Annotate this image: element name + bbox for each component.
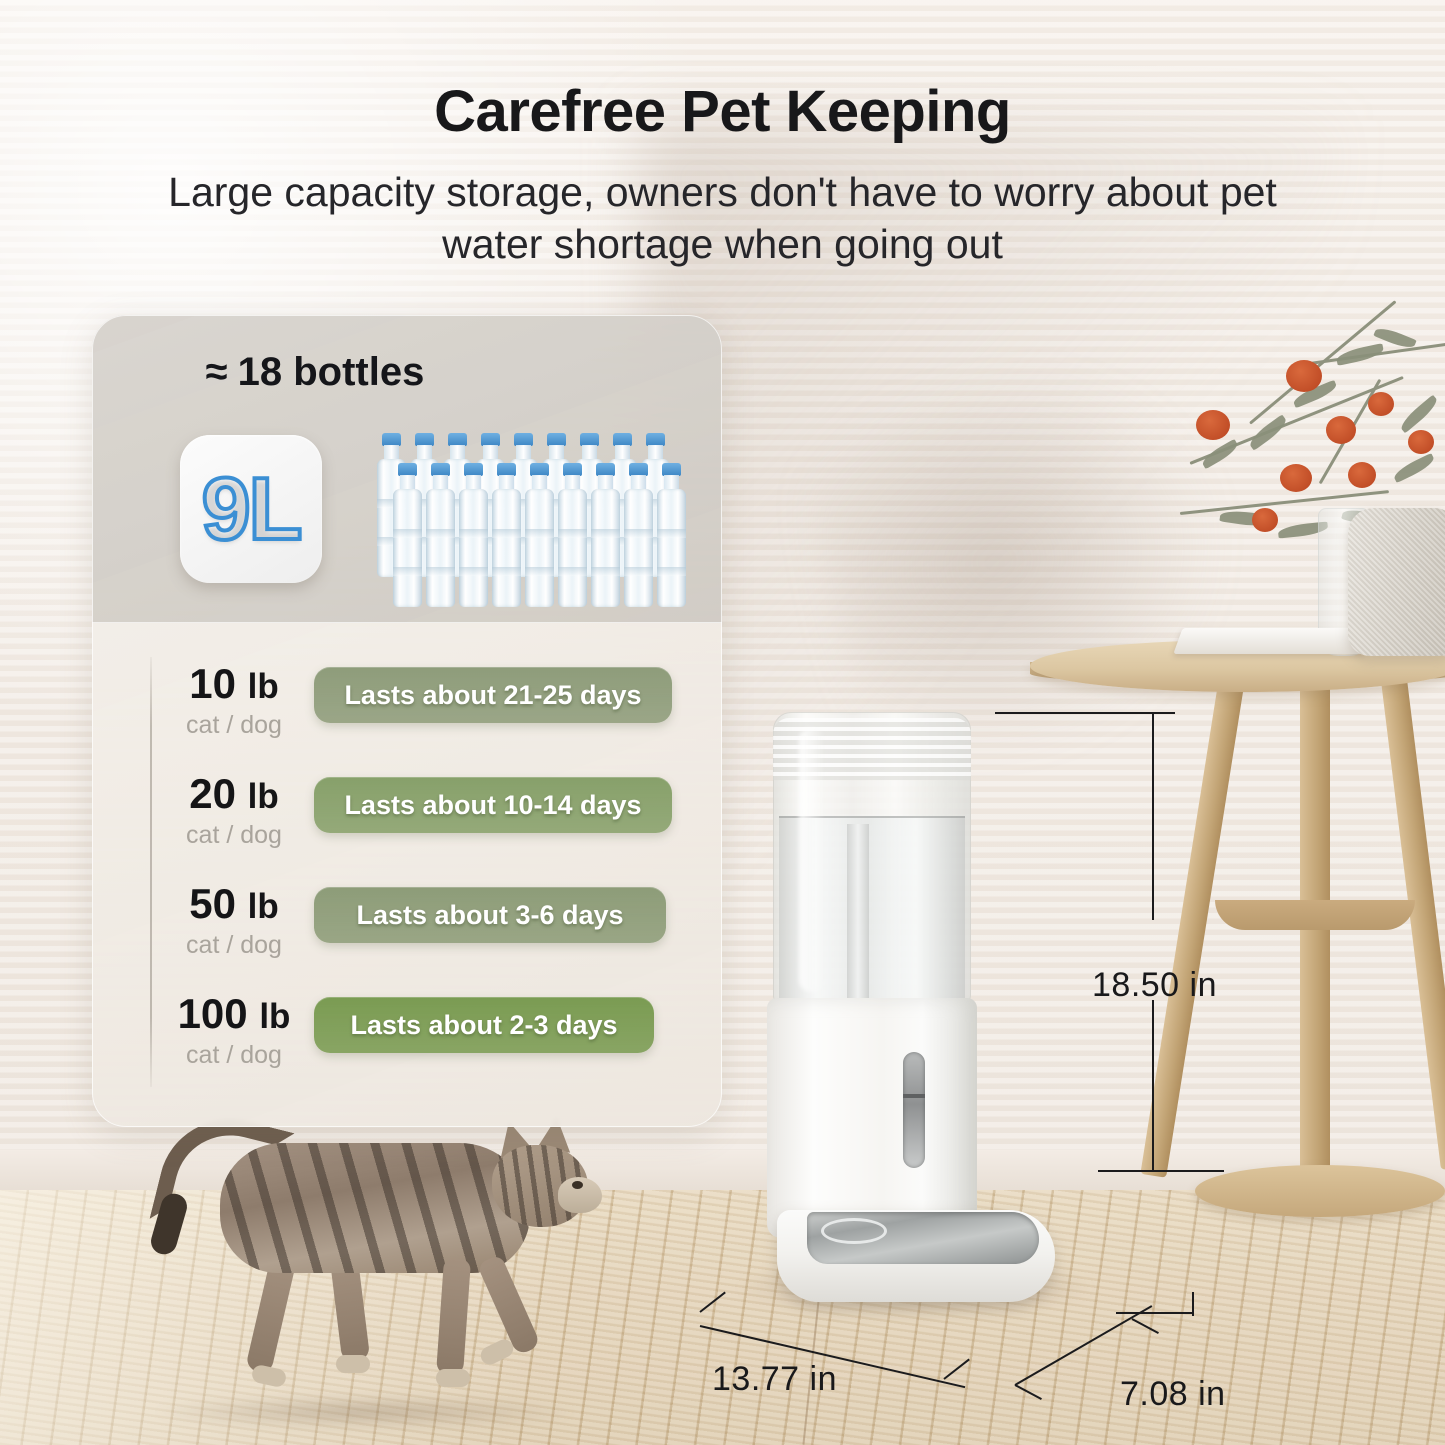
water-bottle <box>588 463 622 611</box>
duration-pill: Lasts about 10-14 days <box>314 777 672 833</box>
capacity-row: 10 lbcat / dogLasts about 21-25 days <box>92 645 722 745</box>
bottle-band <box>558 567 587 576</box>
weight-number: 10 <box>189 660 236 707</box>
bottle-band <box>426 567 455 576</box>
water-bottle <box>390 463 424 611</box>
book-on-table <box>1173 628 1374 654</box>
species-label: cat / dog <box>154 933 314 958</box>
pet-water-dispenser <box>755 712 1075 1312</box>
weight-unit: lb <box>248 667 279 706</box>
bowl-ring <box>821 1218 887 1244</box>
bottle-band <box>426 529 455 538</box>
weight-value: 10 lb <box>154 663 314 705</box>
bottle-body <box>393 489 422 607</box>
bottle-band <box>393 529 422 538</box>
bottle-band <box>624 529 653 538</box>
water-bottle <box>522 463 556 611</box>
weight-unit: lb <box>248 777 279 816</box>
page-title: Carefree Pet Keeping <box>0 78 1445 145</box>
height-line-upper <box>1152 712 1154 920</box>
weight-number: 100 <box>178 990 248 1037</box>
bottle-row-front <box>390 463 687 611</box>
height-bottom-tick <box>1098 1170 1224 1172</box>
bottle-band <box>624 567 653 576</box>
duration-pill: Lasts about 21-25 days <box>314 667 672 723</box>
capacity-row: 20 lbcat / dogLasts about 10-14 days <box>92 755 722 855</box>
species-label: cat / dog <box>154 713 314 738</box>
flower <box>1408 430 1434 454</box>
bottle-body <box>492 489 521 607</box>
weight-value: 50 lb <box>154 883 314 925</box>
bottle-body <box>525 489 554 607</box>
weight-unit: lb <box>259 997 290 1036</box>
cat <box>140 1115 630 1435</box>
weight-unit: lb <box>248 887 279 926</box>
flower <box>1326 416 1356 444</box>
depth-corner-tick <box>1192 1292 1194 1316</box>
bottle-body <box>591 489 620 607</box>
cat-paw <box>436 1369 470 1387</box>
bottle-body <box>426 489 455 607</box>
cat-leg <box>436 1258 471 1376</box>
bottle-band <box>492 529 521 538</box>
water-bottle <box>555 463 589 611</box>
bottle-band <box>525 529 554 538</box>
water-bottle <box>654 463 688 611</box>
cat-paw <box>478 1336 516 1367</box>
flower <box>1280 464 1312 492</box>
width-dimension-label: 13.77 in <box>712 1360 837 1399</box>
bottle-band <box>492 567 521 576</box>
cat-stripes <box>220 1143 530 1273</box>
capacity-rows: 10 lbcat / dogLasts about 21-25 days20 l… <box>92 645 722 1115</box>
species-label: cat / dog <box>154 823 314 848</box>
flower <box>1196 410 1230 440</box>
speaker <box>1348 508 1445 656</box>
table-brace <box>1215 900 1415 930</box>
capacity-row: 50 lbcat / dogLasts about 3-6 days <box>92 865 722 965</box>
bottle-body <box>558 489 587 607</box>
table-foot-ring <box>1195 1165 1445 1217</box>
water-bottle <box>456 463 490 611</box>
volume-badge-text: 9L <box>202 465 301 553</box>
bottle-band <box>657 567 686 576</box>
bottle-band <box>459 567 488 576</box>
approximately-icon: ≈ <box>206 350 228 394</box>
flower <box>1368 392 1394 416</box>
cat-paw <box>336 1355 370 1373</box>
bottle-body <box>657 489 686 607</box>
bottle-band <box>591 567 620 576</box>
dispenser-base <box>767 998 977 1238</box>
height-dimension-label: 18.50 in <box>1092 966 1217 1005</box>
duration-pill: Lasts about 2-3 days <box>314 997 654 1053</box>
water-bottle <box>621 463 655 611</box>
weight-number: 20 <box>189 770 236 817</box>
tank-inner-tube <box>847 824 869 998</box>
capacity-row: 100 lbcat / dogLasts about 2-3 days <box>92 975 722 1075</box>
duration-pill: Lasts about 3-6 days <box>314 887 666 943</box>
weight-value: 100 lb <box>154 993 314 1035</box>
tank-highlight <box>799 728 825 992</box>
bottle-band <box>558 529 587 538</box>
height-line-lower <box>1152 1000 1154 1172</box>
volume-badge: 9L <box>180 435 322 583</box>
bottle-illustration <box>374 433 694 611</box>
water-bottle <box>423 463 457 611</box>
bottles-equivalent-heading: ≈18 bottles <box>0 350 630 395</box>
depth-top-tick <box>1116 1312 1192 1314</box>
depth-dimension-label: 7.08 in <box>1120 1375 1226 1414</box>
page-subtitle: Large capacity storage, owners don't hav… <box>160 166 1285 271</box>
flower <box>1252 508 1278 532</box>
bottle-band <box>459 529 488 538</box>
bottle-band <box>393 567 422 576</box>
water-bottle <box>489 463 523 611</box>
species-label: cat / dog <box>154 1043 314 1068</box>
bottle-band <box>591 529 620 538</box>
flower <box>1286 360 1322 392</box>
cat-eye <box>572 1181 583 1189</box>
bottle-band <box>525 567 554 576</box>
dispenser-slot-mark <box>903 1094 925 1098</box>
speaker-mesh <box>1348 508 1445 656</box>
bottle-band <box>657 529 686 538</box>
bottles-count-label: 18 bottles <box>238 350 425 394</box>
height-top-tick <box>995 712 1175 714</box>
dispenser-slot <box>903 1052 925 1168</box>
weight-value: 20 lb <box>154 773 314 815</box>
cat-paw <box>251 1364 288 1389</box>
flower <box>1348 462 1376 488</box>
bottle-body <box>624 489 653 607</box>
bottle-body <box>459 489 488 607</box>
weight-number: 50 <box>189 880 236 927</box>
